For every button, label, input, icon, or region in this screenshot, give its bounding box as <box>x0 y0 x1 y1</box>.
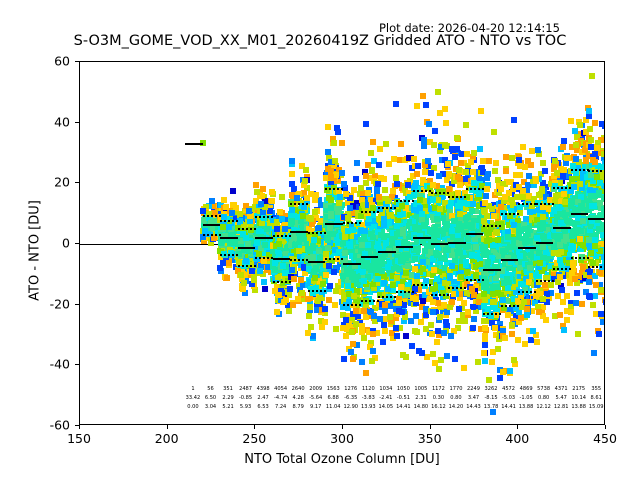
scatter-point <box>495 346 501 352</box>
scatter-point <box>572 207 578 213</box>
scatter-point <box>313 265 319 271</box>
scatter-point <box>277 209 283 215</box>
scatter-point <box>269 198 275 204</box>
scatter-point <box>469 208 475 214</box>
scatter-point <box>428 170 434 176</box>
scatter-point <box>557 312 563 318</box>
scatter-point <box>564 293 570 299</box>
scatter-point <box>482 200 488 206</box>
scatter-point <box>580 264 586 270</box>
scatter-point <box>294 195 300 201</box>
scatter-point <box>420 93 426 99</box>
scatter-point <box>350 356 356 362</box>
scatter-point <box>325 124 331 130</box>
scatter-point <box>305 330 311 336</box>
scatter-point <box>341 181 347 187</box>
scatter-point <box>323 251 329 257</box>
scatter-point <box>465 243 471 249</box>
scatter-point <box>558 249 564 255</box>
scatter-point <box>591 350 597 356</box>
scatter-point <box>229 210 235 216</box>
scatter-point <box>382 302 388 308</box>
scatter-point <box>536 250 542 256</box>
scatter-point <box>276 292 282 298</box>
scatter-point <box>393 101 399 107</box>
scatter-point <box>298 277 304 283</box>
scatter-point <box>430 299 436 305</box>
scatter-point <box>247 218 253 224</box>
scatter-point <box>471 292 477 298</box>
scatter-point <box>469 286 475 292</box>
scatter-point <box>486 377 492 383</box>
scatter-point <box>274 226 280 232</box>
scatter-point <box>379 261 385 267</box>
scatter-point <box>518 281 524 287</box>
scatter-point <box>509 155 515 161</box>
scatter-point <box>262 286 268 292</box>
scatter-point <box>403 333 409 339</box>
scatter-point <box>302 178 308 184</box>
scatter-point <box>461 300 467 306</box>
scatter-point <box>539 186 545 192</box>
scatter-point <box>457 182 463 188</box>
scatter-point <box>471 150 477 156</box>
scatter-point <box>449 263 455 269</box>
scatter-point <box>491 299 497 305</box>
scatter-point <box>363 173 369 179</box>
scatter-point <box>403 354 409 360</box>
scatter-point <box>572 276 578 282</box>
scatter-point <box>555 279 561 285</box>
scatter-point <box>289 171 295 177</box>
scatter-point <box>319 324 325 330</box>
scatter-point <box>564 317 570 323</box>
scatter-point <box>434 339 440 345</box>
scatter-point <box>328 174 334 180</box>
scatter-point <box>551 250 557 256</box>
scatter-point <box>370 139 376 145</box>
scatter-point <box>209 198 215 204</box>
scatter-point <box>481 350 487 356</box>
scatter-point <box>507 368 513 374</box>
scatter-point <box>437 206 443 212</box>
scatter-point <box>553 193 559 199</box>
scatter-point <box>426 121 432 127</box>
scatter-point <box>359 323 365 329</box>
scatter-point <box>580 218 586 224</box>
scatter-point <box>348 349 354 355</box>
scatter-point <box>458 160 464 166</box>
scatter-point <box>540 244 546 250</box>
scatter-point <box>417 205 423 211</box>
scatter-point <box>381 322 387 328</box>
scatter-point <box>560 144 566 150</box>
scatter-point <box>256 251 262 257</box>
scatter-point <box>528 162 534 168</box>
scatter-point <box>380 339 386 345</box>
scatter-point <box>345 215 351 221</box>
scatter-point <box>481 291 487 297</box>
scatter-point <box>509 322 515 328</box>
scatter-point <box>463 169 469 175</box>
scatter-point <box>385 264 391 270</box>
scatter-point <box>489 359 495 365</box>
scatter-point <box>381 222 387 228</box>
scatter-point <box>351 293 357 299</box>
scatter-point <box>221 214 227 220</box>
scatter-point <box>376 194 382 200</box>
scatter-point <box>493 160 499 166</box>
scatter-point <box>577 236 583 242</box>
scatter-point <box>446 171 452 177</box>
scatter-point <box>486 237 492 243</box>
scatter-point <box>353 176 359 182</box>
scatter-point <box>570 244 576 250</box>
scatter-point <box>430 286 436 292</box>
scatter-point <box>557 274 563 280</box>
scatter-point <box>423 102 429 108</box>
scatter-point <box>430 309 436 315</box>
scatter-point <box>261 279 267 285</box>
scatter-point <box>394 333 400 339</box>
scatter-point <box>438 228 444 234</box>
scatter-point <box>260 186 266 192</box>
scatter-point <box>289 158 295 164</box>
scatter-point <box>436 173 442 179</box>
scatter-point <box>522 226 528 232</box>
scatter-point <box>262 242 268 248</box>
scatter-point <box>527 265 533 271</box>
scatter-point <box>421 143 427 149</box>
scatter-point <box>276 251 282 257</box>
scatter-point <box>465 236 471 242</box>
scatter-point <box>516 184 522 190</box>
scatter-point <box>475 359 481 365</box>
scatter-point <box>402 314 408 320</box>
page-title: S-O3M_GOME_VOD_XX_M01_20260419Z Gridded … <box>0 33 640 49</box>
scatter-point <box>421 222 427 228</box>
scatter-point <box>342 250 348 256</box>
scatter-point <box>339 170 345 176</box>
scatter-point <box>557 211 563 217</box>
scatter-point <box>469 252 475 258</box>
scatter-point <box>385 198 391 204</box>
scatter-point <box>522 239 528 245</box>
scatter-point <box>533 176 539 182</box>
scatter-point <box>436 366 442 372</box>
plot-axes-frame <box>79 61 605 425</box>
scatter-point <box>481 252 487 258</box>
scatter-point <box>390 282 396 288</box>
scatter-point <box>434 276 440 282</box>
scatter-point <box>306 313 312 319</box>
scatter-point <box>241 280 247 286</box>
scatter-point <box>332 302 338 308</box>
scatter-point <box>414 273 420 279</box>
scatter-point <box>230 188 236 194</box>
scatter-point <box>410 295 416 301</box>
scatter-point <box>419 211 425 217</box>
scatter-point <box>375 241 381 247</box>
scatter-point <box>473 244 479 250</box>
scatter-point <box>463 215 469 221</box>
scatter-point <box>289 218 295 224</box>
scatter-point <box>419 350 425 356</box>
scatter-point <box>403 270 409 276</box>
scatter-point <box>274 309 280 315</box>
scatter-point <box>561 327 567 333</box>
scatter-point <box>492 325 498 331</box>
scatter-point <box>286 308 292 314</box>
scatter-point <box>369 168 375 174</box>
scatter-point <box>258 201 264 207</box>
scatter-point <box>568 309 574 315</box>
scatter-point <box>568 118 574 124</box>
scatter-point <box>397 212 403 218</box>
scatter-point <box>560 299 566 305</box>
scatter-point <box>522 341 528 347</box>
scatter-point <box>449 146 455 152</box>
scatter-point <box>574 290 580 296</box>
scatter-point <box>256 228 262 234</box>
scatter-point <box>251 277 257 283</box>
scatter-point <box>540 160 546 166</box>
scatter-point <box>343 333 349 339</box>
scatter-point <box>341 356 347 362</box>
scatter-point <box>217 265 223 271</box>
scatter-point <box>413 225 419 231</box>
scatter-point <box>425 158 431 164</box>
scatter-point <box>224 275 230 281</box>
scatter-point <box>486 158 492 164</box>
scatter-point <box>349 329 355 335</box>
scatter-point <box>476 191 482 197</box>
scatter-point <box>414 103 420 109</box>
scatter-point <box>365 190 371 196</box>
scatter-point <box>464 151 470 157</box>
scatter-point <box>461 365 467 371</box>
scatter-point <box>452 356 458 362</box>
scatter-point <box>279 216 285 222</box>
scatter-point <box>511 357 517 363</box>
scatter-point <box>435 89 441 95</box>
scatter-point <box>363 121 369 127</box>
scatter-point <box>579 301 585 307</box>
scatter-point <box>226 224 232 230</box>
scatter-point <box>361 335 367 341</box>
scatter-point <box>381 234 387 240</box>
scatter-point <box>405 263 411 269</box>
scatter-point <box>253 182 259 188</box>
scatter-point <box>243 235 249 241</box>
scatter-point <box>517 163 523 169</box>
scatter-point <box>561 167 567 173</box>
scatter-point <box>491 129 497 135</box>
scatter-point <box>430 182 436 188</box>
scatter-point <box>477 146 483 152</box>
scatter-point <box>361 308 367 314</box>
scatter-point <box>573 142 579 148</box>
scatter-point <box>257 268 263 274</box>
scatter-point <box>386 161 392 167</box>
scatter-point <box>498 186 504 192</box>
scatter-point <box>300 213 306 219</box>
scatter-point <box>463 262 469 268</box>
scatter-point <box>409 343 415 349</box>
scatter-point <box>307 304 313 310</box>
scatter-point <box>375 181 381 187</box>
scatter-point <box>502 194 508 200</box>
scatter-point <box>308 216 314 222</box>
scatter-point <box>570 229 576 235</box>
scatter-point <box>420 266 426 272</box>
scatter-point <box>557 257 563 263</box>
scatter-point <box>441 330 447 336</box>
scatter-point <box>493 229 499 235</box>
scatter-point <box>381 216 387 222</box>
scatter-point <box>429 331 435 337</box>
scatter-point <box>471 316 477 322</box>
scatter-point <box>537 222 543 228</box>
scatter-point <box>517 253 523 259</box>
scatter-point <box>575 331 581 337</box>
scatter-point <box>464 269 470 275</box>
scatter-point <box>363 180 369 186</box>
scatter-point <box>462 318 468 324</box>
scatter-point <box>420 259 426 265</box>
scatter-point <box>432 128 438 134</box>
scatter-point <box>267 208 273 214</box>
scatter-point <box>221 197 227 203</box>
scatter-point <box>317 295 323 301</box>
scatter-point <box>500 297 506 303</box>
scatter-point <box>454 135 460 141</box>
scatter-point <box>449 299 455 305</box>
scatter-point <box>509 331 515 337</box>
scatter-point <box>264 226 270 232</box>
scatter-point <box>333 288 339 294</box>
scatter-point <box>211 235 217 241</box>
scatter-point <box>500 248 506 254</box>
scatter-point <box>534 235 540 241</box>
scatter-point <box>456 306 462 312</box>
scatter-point <box>411 192 417 198</box>
scatter-point <box>331 269 337 275</box>
scatter-point <box>573 300 579 306</box>
scatter-point <box>343 317 349 323</box>
scatter-point <box>398 141 404 147</box>
scatter-point <box>448 333 454 339</box>
scatter-point <box>332 158 338 164</box>
scatter-point <box>420 298 426 304</box>
scatter-point <box>455 203 461 209</box>
scatter-point <box>345 283 351 289</box>
scatter-point <box>325 237 331 243</box>
scatter-point <box>548 282 554 288</box>
scatter-point <box>578 203 584 209</box>
scatter-point <box>465 309 471 315</box>
scatter-point <box>529 148 535 154</box>
scatter-point <box>342 234 348 240</box>
scatter-point <box>432 360 438 366</box>
scatter-point <box>468 159 474 165</box>
scatter-point <box>455 190 461 196</box>
scatter-point <box>452 154 458 160</box>
scatter-point <box>431 142 437 148</box>
scatter-point <box>589 73 595 79</box>
scatter-point <box>377 146 383 152</box>
scatter-point <box>326 263 332 269</box>
scatter-point <box>361 234 367 240</box>
scatter-point <box>445 161 451 167</box>
scatter-point <box>437 110 443 116</box>
scatter-point <box>482 325 488 331</box>
scatter-point <box>517 172 523 178</box>
scatter-point <box>435 300 441 306</box>
scatter-point <box>542 168 548 174</box>
scatter-point <box>485 306 491 312</box>
scatter-point <box>309 221 315 227</box>
scatter-point <box>484 186 490 192</box>
scatter-point <box>573 156 579 162</box>
scatter-point <box>347 205 353 211</box>
scatter-point <box>465 223 471 229</box>
scatter-point <box>430 351 436 357</box>
scatter-point <box>536 192 542 198</box>
scatter-point <box>289 267 295 273</box>
scatter-point <box>396 300 402 306</box>
scatter-point <box>428 227 434 233</box>
scatter-point <box>237 211 243 217</box>
scatter-point <box>540 296 546 302</box>
scatter-point <box>359 359 365 365</box>
scatter-point <box>470 325 476 331</box>
scatter-point <box>365 242 371 248</box>
scatter-point <box>443 120 449 126</box>
scatter-point <box>412 183 418 189</box>
scatter-point <box>368 150 374 156</box>
scatter-point <box>295 296 301 302</box>
scatter-point <box>254 240 260 246</box>
scatter-point <box>485 171 491 177</box>
scatter-point <box>287 286 293 292</box>
scatter-point <box>518 315 524 321</box>
scatter-point <box>482 333 488 339</box>
scatter-point <box>246 208 252 214</box>
scatter-point <box>361 278 367 284</box>
scatter-point <box>279 194 285 200</box>
scatter-point <box>434 252 440 258</box>
scatter-point <box>328 213 334 219</box>
scatter-point <box>431 267 437 273</box>
scatter-point <box>396 308 402 314</box>
scatter-point <box>312 275 318 281</box>
scatter-point <box>415 163 421 169</box>
scatter-point <box>327 283 333 289</box>
scatter-point <box>505 312 511 318</box>
scatter-point <box>305 296 311 302</box>
scatter-point <box>540 214 546 220</box>
scatter-point <box>400 227 406 233</box>
scatter-point <box>561 191 567 197</box>
scatter-point <box>482 358 488 364</box>
data-clip-region <box>80 62 604 424</box>
scatter-point <box>325 245 331 251</box>
scatter-point <box>414 171 420 177</box>
scatter-point <box>311 237 317 243</box>
scatter-point <box>238 272 244 278</box>
scatter-point <box>447 304 453 310</box>
